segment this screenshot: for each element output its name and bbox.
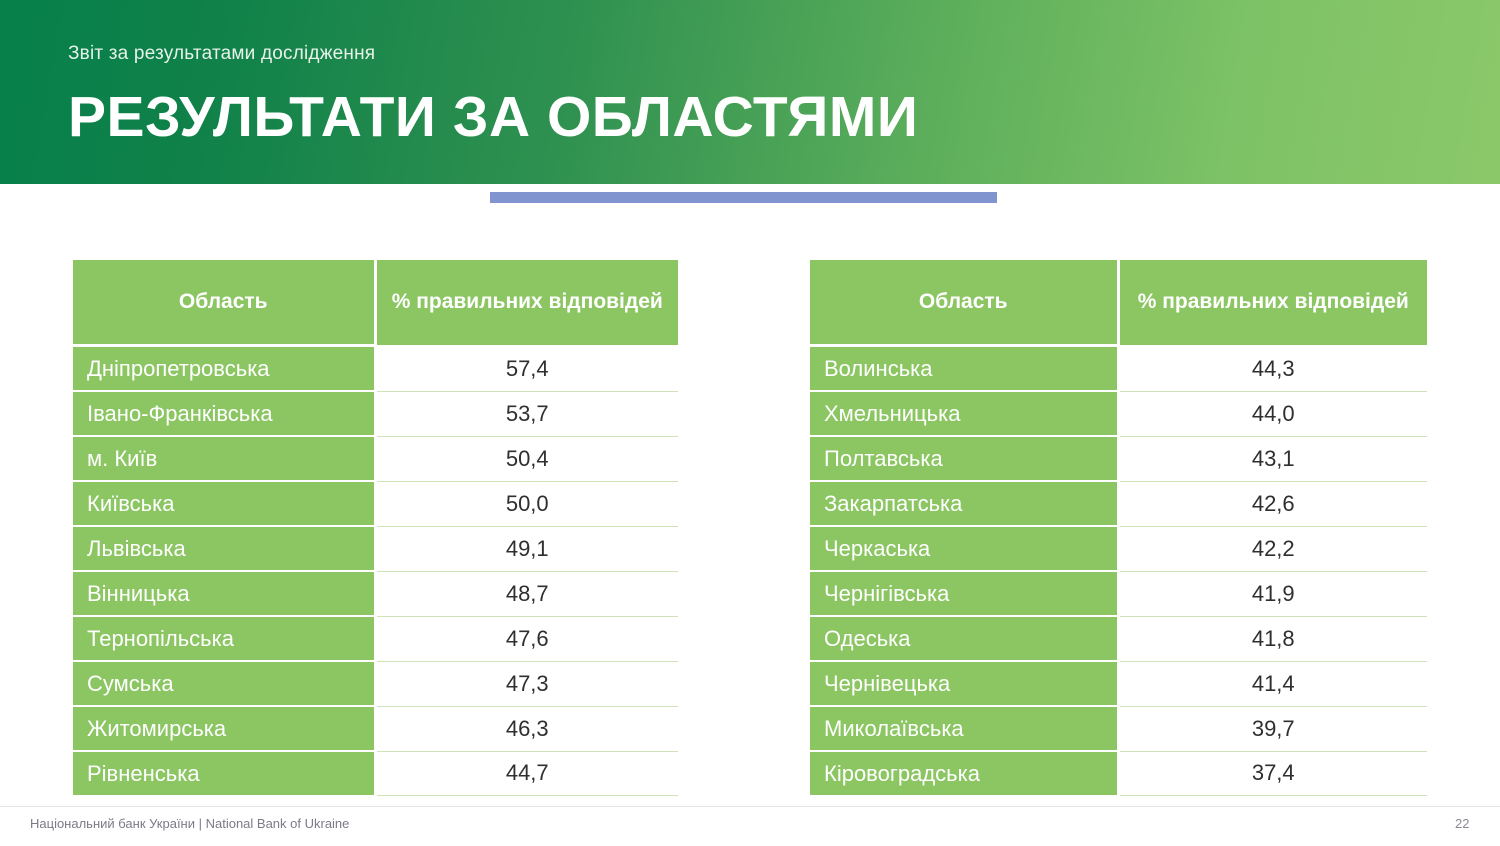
cell-region: Чернігівська — [810, 571, 1118, 616]
table-header-row: Область % правильних відповідей — [810, 260, 1427, 346]
page-number: 22 — [1455, 816, 1469, 831]
header-band: Звіт за результатами дослідження РЕЗУЛЬТ… — [0, 0, 1500, 184]
table-row: Одеська41,8 — [810, 616, 1427, 661]
column-header-region: Область — [810, 260, 1118, 346]
table-row: Чернівецька41,4 — [810, 661, 1427, 706]
table-row: Вінницька48,7 — [73, 571, 678, 616]
cell-region: Вінницька — [73, 571, 375, 616]
table-row: Кіровоградська37,4 — [810, 751, 1427, 795]
cell-region: Полтавська — [810, 436, 1118, 481]
table-row: Тернопільська47,6 — [73, 616, 678, 661]
results-table-left: Область % правильних відповідей Дніпропе… — [73, 260, 678, 796]
table-right-body: Волинська44,3Хмельницька44,0Полтавська43… — [810, 346, 1427, 796]
cell-region: Черкаська — [810, 526, 1118, 571]
column-header-percent: % правильних відповідей — [375, 260, 678, 346]
table-row: м. Київ50,4 — [73, 436, 678, 481]
cell-region: Рівненська — [73, 751, 375, 795]
table-left-body: Дніпропетровська57,4Івано-Франківська53,… — [73, 346, 678, 796]
cell-region: Львівська — [73, 526, 375, 571]
cell-percent-correct: 42,2 — [1118, 526, 1427, 571]
cell-region: Волинська — [810, 346, 1118, 392]
table-row: Закарпатська42,6 — [810, 481, 1427, 526]
cell-region: Сумська — [73, 661, 375, 706]
table-row: Київська50,0 — [73, 481, 678, 526]
cell-region: Івано-Франківська — [73, 391, 375, 436]
results-table-right: Область % правильних відповідей Волинськ… — [810, 260, 1427, 796]
table-row: Хмельницька44,0 — [810, 391, 1427, 436]
table-left: Область % правильних відповідей Дніпропе… — [73, 260, 678, 796]
cell-region: Одеська — [810, 616, 1118, 661]
cell-percent-correct: 39,7 — [1118, 706, 1427, 751]
cell-percent-correct: 41,9 — [1118, 571, 1427, 616]
cell-region: Житомирська — [73, 706, 375, 751]
table-row: Дніпропетровська57,4 — [73, 346, 678, 392]
column-header-region: Область — [73, 260, 375, 346]
header-eyebrow: Звіт за результатами дослідження — [68, 43, 375, 65]
cell-region: Хмельницька — [810, 391, 1118, 436]
cell-percent-correct: 46,3 — [375, 706, 678, 751]
table-row: Волинська44,3 — [810, 346, 1427, 392]
cell-percent-correct: 41,8 — [1118, 616, 1427, 661]
cell-region: Кіровоградська — [810, 751, 1118, 795]
cell-percent-correct: 50,4 — [375, 436, 678, 481]
table-row: Сумська47,3 — [73, 661, 678, 706]
cell-percent-correct: 44,3 — [1118, 346, 1427, 392]
table-right-head: Область % правильних відповідей — [810, 260, 1427, 346]
footer-divider — [0, 806, 1500, 807]
cell-percent-correct: 47,3 — [375, 661, 678, 706]
cell-percent-correct: 50,0 — [375, 481, 678, 526]
cell-percent-correct: 37,4 — [1118, 751, 1427, 795]
table-row: Львівська49,1 — [73, 526, 678, 571]
cell-region: Київська — [73, 481, 375, 526]
cell-region: Дніпропетровська — [73, 346, 375, 392]
table-row: Житомирська46,3 — [73, 706, 678, 751]
table-row: Черкаська42,2 — [810, 526, 1427, 571]
cell-region: Тернопільська — [73, 616, 375, 661]
cell-percent-correct: 57,4 — [375, 346, 678, 392]
table-row: Івано-Франківська53,7 — [73, 391, 678, 436]
cell-percent-correct: 41,4 — [1118, 661, 1427, 706]
cell-percent-correct: 43,1 — [1118, 436, 1427, 481]
table-row: Чернігівська41,9 — [810, 571, 1427, 616]
table-left-head: Область % правильних відповідей — [73, 260, 678, 346]
page-title: РЕЗУЛЬТАТИ ЗА ОБЛАСТЯМИ — [68, 84, 918, 150]
cell-percent-correct: 44,7 — [375, 751, 678, 795]
cell-region: Чернівецька — [810, 661, 1118, 706]
footer-organization: Національний банк України | National Ban… — [30, 816, 349, 831]
table-header-row: Область % правильних відповідей — [73, 260, 678, 346]
accent-divider-bar — [490, 192, 997, 203]
cell-percent-correct: 42,6 — [1118, 481, 1427, 526]
cell-percent-correct: 49,1 — [375, 526, 678, 571]
table-row: Рівненська44,7 — [73, 751, 678, 795]
cell-region: Закарпатська — [810, 481, 1118, 526]
cell-region: Миколаївська — [810, 706, 1118, 751]
column-header-percent: % правильних відповідей — [1118, 260, 1427, 346]
cell-percent-correct: 44,0 — [1118, 391, 1427, 436]
table-row: Полтавська43,1 — [810, 436, 1427, 481]
cell-region: м. Київ — [73, 436, 375, 481]
cell-percent-correct: 47,6 — [375, 616, 678, 661]
table-row: Миколаївська39,7 — [810, 706, 1427, 751]
cell-percent-correct: 53,7 — [375, 391, 678, 436]
table-right: Область % правильних відповідей Волинськ… — [810, 260, 1427, 796]
cell-percent-correct: 48,7 — [375, 571, 678, 616]
